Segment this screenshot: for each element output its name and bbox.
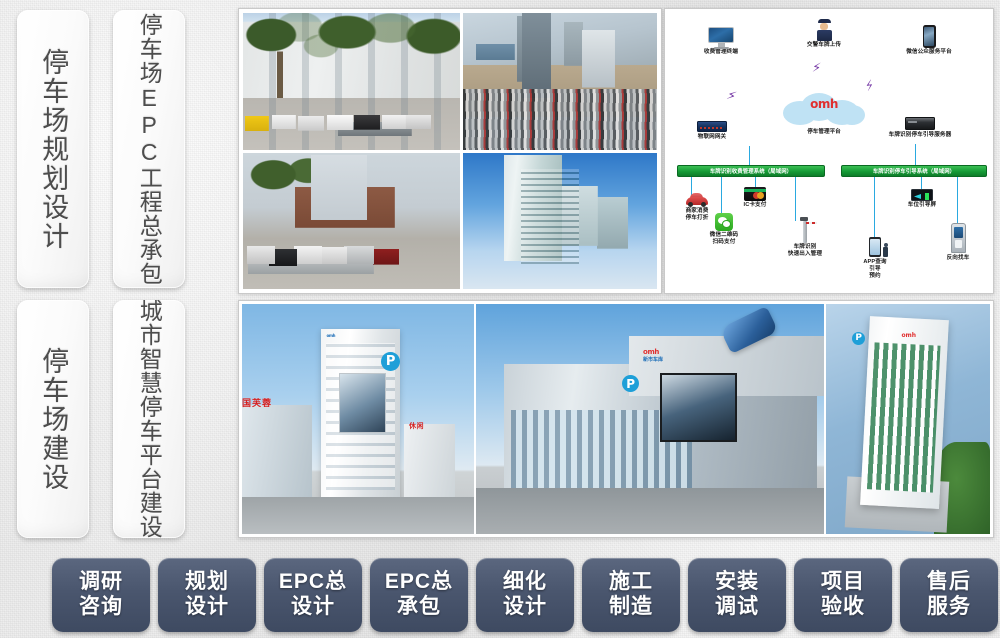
step-planning-design[interactable]: 规划 设计: [158, 558, 256, 632]
sidebar-item-label: 停车场规划设计: [39, 48, 68, 251]
omh-logo: omh: [901, 332, 916, 339]
step-label-line2: 设计: [185, 595, 229, 620]
led-billboard: [660, 373, 737, 442]
sidebar-item-parking-construction[interactable]: 停车场建设: [17, 300, 89, 538]
step-label-line2: 调试: [715, 595, 759, 620]
step-label-line1: 施工: [609, 570, 653, 595]
step-label-line1: 项目: [821, 570, 865, 595]
system-architecture-panel: ⚡ ⚡ ⚡ 收费管理终端 交警车牌上传 微信公众服务平台: [664, 8, 994, 294]
leaf-parking-guidance-screen: 车位引导屏: [899, 189, 945, 209]
leaf-app-query-guidance-booking: APP查询 引导 预约: [853, 237, 897, 280]
step-construction-manufacturing[interactable]: 施工 制造: [582, 558, 680, 632]
step-research-consulting[interactable]: 调研 咨询: [52, 558, 150, 632]
node-label: 物联网网关: [681, 134, 743, 141]
process-step-bar: 调研 咨询 规划 设计 EPC总 设计 EPC总 承包 细化 设计 施工 制造: [52, 552, 998, 638]
leaf-label: 车牌识别 快速出入管理: [779, 244, 831, 258]
photo-glass-tower-street: [463, 153, 657, 290]
sidebar-item-parking-planning-design[interactable]: 停车场规划设计: [17, 10, 89, 288]
node-label: 收费管理终端: [691, 49, 751, 56]
step-label-line2: 咨询: [79, 595, 123, 620]
leaf-label: IC卡支付: [733, 202, 777, 209]
sidebar-item-parking-epc-general-contracting[interactable]: 停车场EPC工程总承包: [113, 10, 185, 288]
iot-gateway-icon: [697, 121, 727, 132]
step-label-line1: 售后: [927, 570, 971, 595]
step-label-line2: 设计: [291, 595, 335, 620]
omh-logo-text: omh: [643, 348, 659, 356]
step-label-line2: 承包: [397, 595, 441, 620]
step-label-line2: 设计: [503, 595, 547, 620]
connector-line: [795, 177, 796, 221]
step-label-line1: EPC总: [279, 570, 347, 595]
connector-line: [749, 146, 750, 165]
node-label: 微信公众服务平台: [891, 49, 967, 56]
banner-label: 车牌识别收费管理系统（局域网）: [710, 167, 792, 175]
node-label: 车牌识别停车引导服务器: [881, 132, 959, 139]
wechat-icon: [715, 213, 733, 231]
leaf-lpr-fast-access-control: 车牌识别 快速出入管理: [779, 217, 831, 258]
pedestrian-icon: [883, 243, 888, 257]
step-label-line1: EPC总: [385, 570, 453, 595]
omh-logo-text: omh: [327, 333, 336, 338]
storefront-sign: 国芙蓉: [242, 396, 272, 409]
leaf-label: 车位引导屏: [899, 202, 945, 209]
step-installation-commissioning[interactable]: 安装 调试: [688, 558, 786, 632]
poster-root: 停车场规划设计 停车场EPC工程总承包 停车场建设 城市智慧停车平台建设 ⚡ ⚡…: [0, 0, 1000, 638]
step-label-line2: 制造: [609, 595, 653, 620]
parking-p-sign: P: [852, 332, 865, 345]
omh-logo: omh: [326, 332, 336, 339]
billboard: [339, 373, 385, 433]
leaf-label: 反向找车: [935, 255, 981, 262]
banner-lpr-parking-guidance-system: 车牌识别停车引导系统（局域网）: [841, 165, 987, 177]
omh-logo: omh 新市车库: [643, 348, 663, 363]
render-aerial-tower: P omh: [826, 304, 990, 534]
photo-aerial-parking-lot: [463, 13, 657, 150]
connector-line: [721, 177, 722, 215]
photo-collage-panel: [238, 8, 662, 294]
step-label-line2: 验收: [821, 595, 865, 620]
led-guidance-screen-icon: [911, 189, 933, 201]
photo-grid: [243, 13, 657, 289]
step-label-line1: 细化: [503, 570, 547, 595]
connector-line: [874, 177, 875, 239]
monitor-icon: [708, 27, 734, 48]
node-toll-management-terminal: 收费管理终端: [691, 27, 751, 56]
server-icon: [905, 117, 935, 130]
connector-line: [957, 177, 958, 225]
system-architecture-diagram: ⚡ ⚡ ⚡ 收费管理终端 交警车牌上传 微信公众服务平台: [669, 13, 989, 289]
connector-line: [915, 144, 916, 165]
node-iot-gateway: 物联网网关: [681, 121, 743, 141]
leaf-wechat-qr-payment: 微信二维码 扫码支付: [699, 213, 749, 246]
police-officer-icon: [817, 19, 832, 41]
node-wechat-public-service-platform: 微信公众服务平台: [891, 25, 967, 56]
app-phone-icon: [869, 237, 881, 257]
sidebar-item-label: 城市智慧停车平台建设: [137, 300, 161, 538]
sidebar-item-label: 停车场EPC工程总承包: [137, 13, 161, 286]
step-epc-design[interactable]: EPC总 设计: [264, 558, 362, 632]
sidebar-item-label: 停车场建设: [39, 347, 68, 492]
step-epc-contracting[interactable]: EPC总 承包: [370, 558, 468, 632]
process-step-row: 调研 咨询 规划 设计 EPC总 设计 EPC总 承包 细化 设计 施工 制造: [52, 552, 998, 638]
leaf-label: APP查询 引导 预约: [853, 259, 897, 280]
node-traffic-police-plate-upload: 交警车牌上传: [794, 19, 854, 49]
banner-lpr-toll-management-system: 车牌识别收费管理系统（局域网）: [677, 165, 825, 177]
smartphone-icon: [923, 25, 936, 48]
step-label-line1: 调研: [79, 570, 123, 595]
kiosk-icon: [951, 223, 966, 253]
red-car-icon: [686, 193, 708, 207]
step-label-line1: 规划: [185, 570, 229, 595]
lightning-bolt-icon: ⚡: [812, 61, 822, 75]
render-strip: omh P 国芙蓉 休闲 omh 新市车库 P: [242, 304, 990, 534]
cloud-parking-management-platform: omh 停车管理平台: [781, 91, 867, 125]
banner-label: 车牌识别停车引导系统（局域网）: [873, 167, 955, 175]
step-after-sales-service[interactable]: 售后 服务: [900, 558, 998, 632]
leaf-ic-card-payment: IC卡支付: [733, 187, 777, 209]
step-label-line1: 安装: [715, 570, 759, 595]
photo-brick-building-parking: [243, 153, 460, 290]
render-tower-billboard: omh P 国芙蓉 休闲: [242, 304, 474, 534]
leaf-label: 微信二维码 扫码支付: [699, 232, 749, 246]
sidebar-item-smart-city-parking-platform[interactable]: 城市智慧停车平台建设: [113, 300, 185, 538]
lightning-bolt-icon: ⚡: [725, 88, 738, 103]
leaf-reverse-car-finding: 反向找车: [935, 223, 981, 262]
ic-card-icon: [744, 187, 766, 201]
step-label-line2: 服务: [927, 595, 971, 620]
node-lpr-guidance-server: 车牌识别停车引导服务器: [881, 117, 959, 139]
omh-logo-subtext: 新市车库: [643, 356, 663, 363]
omh-logo: omh: [781, 97, 867, 111]
render-wide-garage: omh 新市车库 P: [476, 304, 824, 534]
node-label: 交警车牌上传: [794, 42, 854, 49]
photo-street-level-parking-lot: [243, 13, 460, 150]
step-project-acceptance[interactable]: 项目 验收: [794, 558, 892, 632]
storefront-sign-secondary: 休闲: [409, 421, 424, 431]
step-detailed-design[interactable]: 细化 设计: [476, 558, 574, 632]
render-strip-panel: omh P 国芙蓉 休闲 omh 新市车库 P: [238, 300, 994, 538]
cloud-label: 停车管理平台: [773, 127, 875, 135]
barrier-gate-icon: [793, 217, 817, 243]
